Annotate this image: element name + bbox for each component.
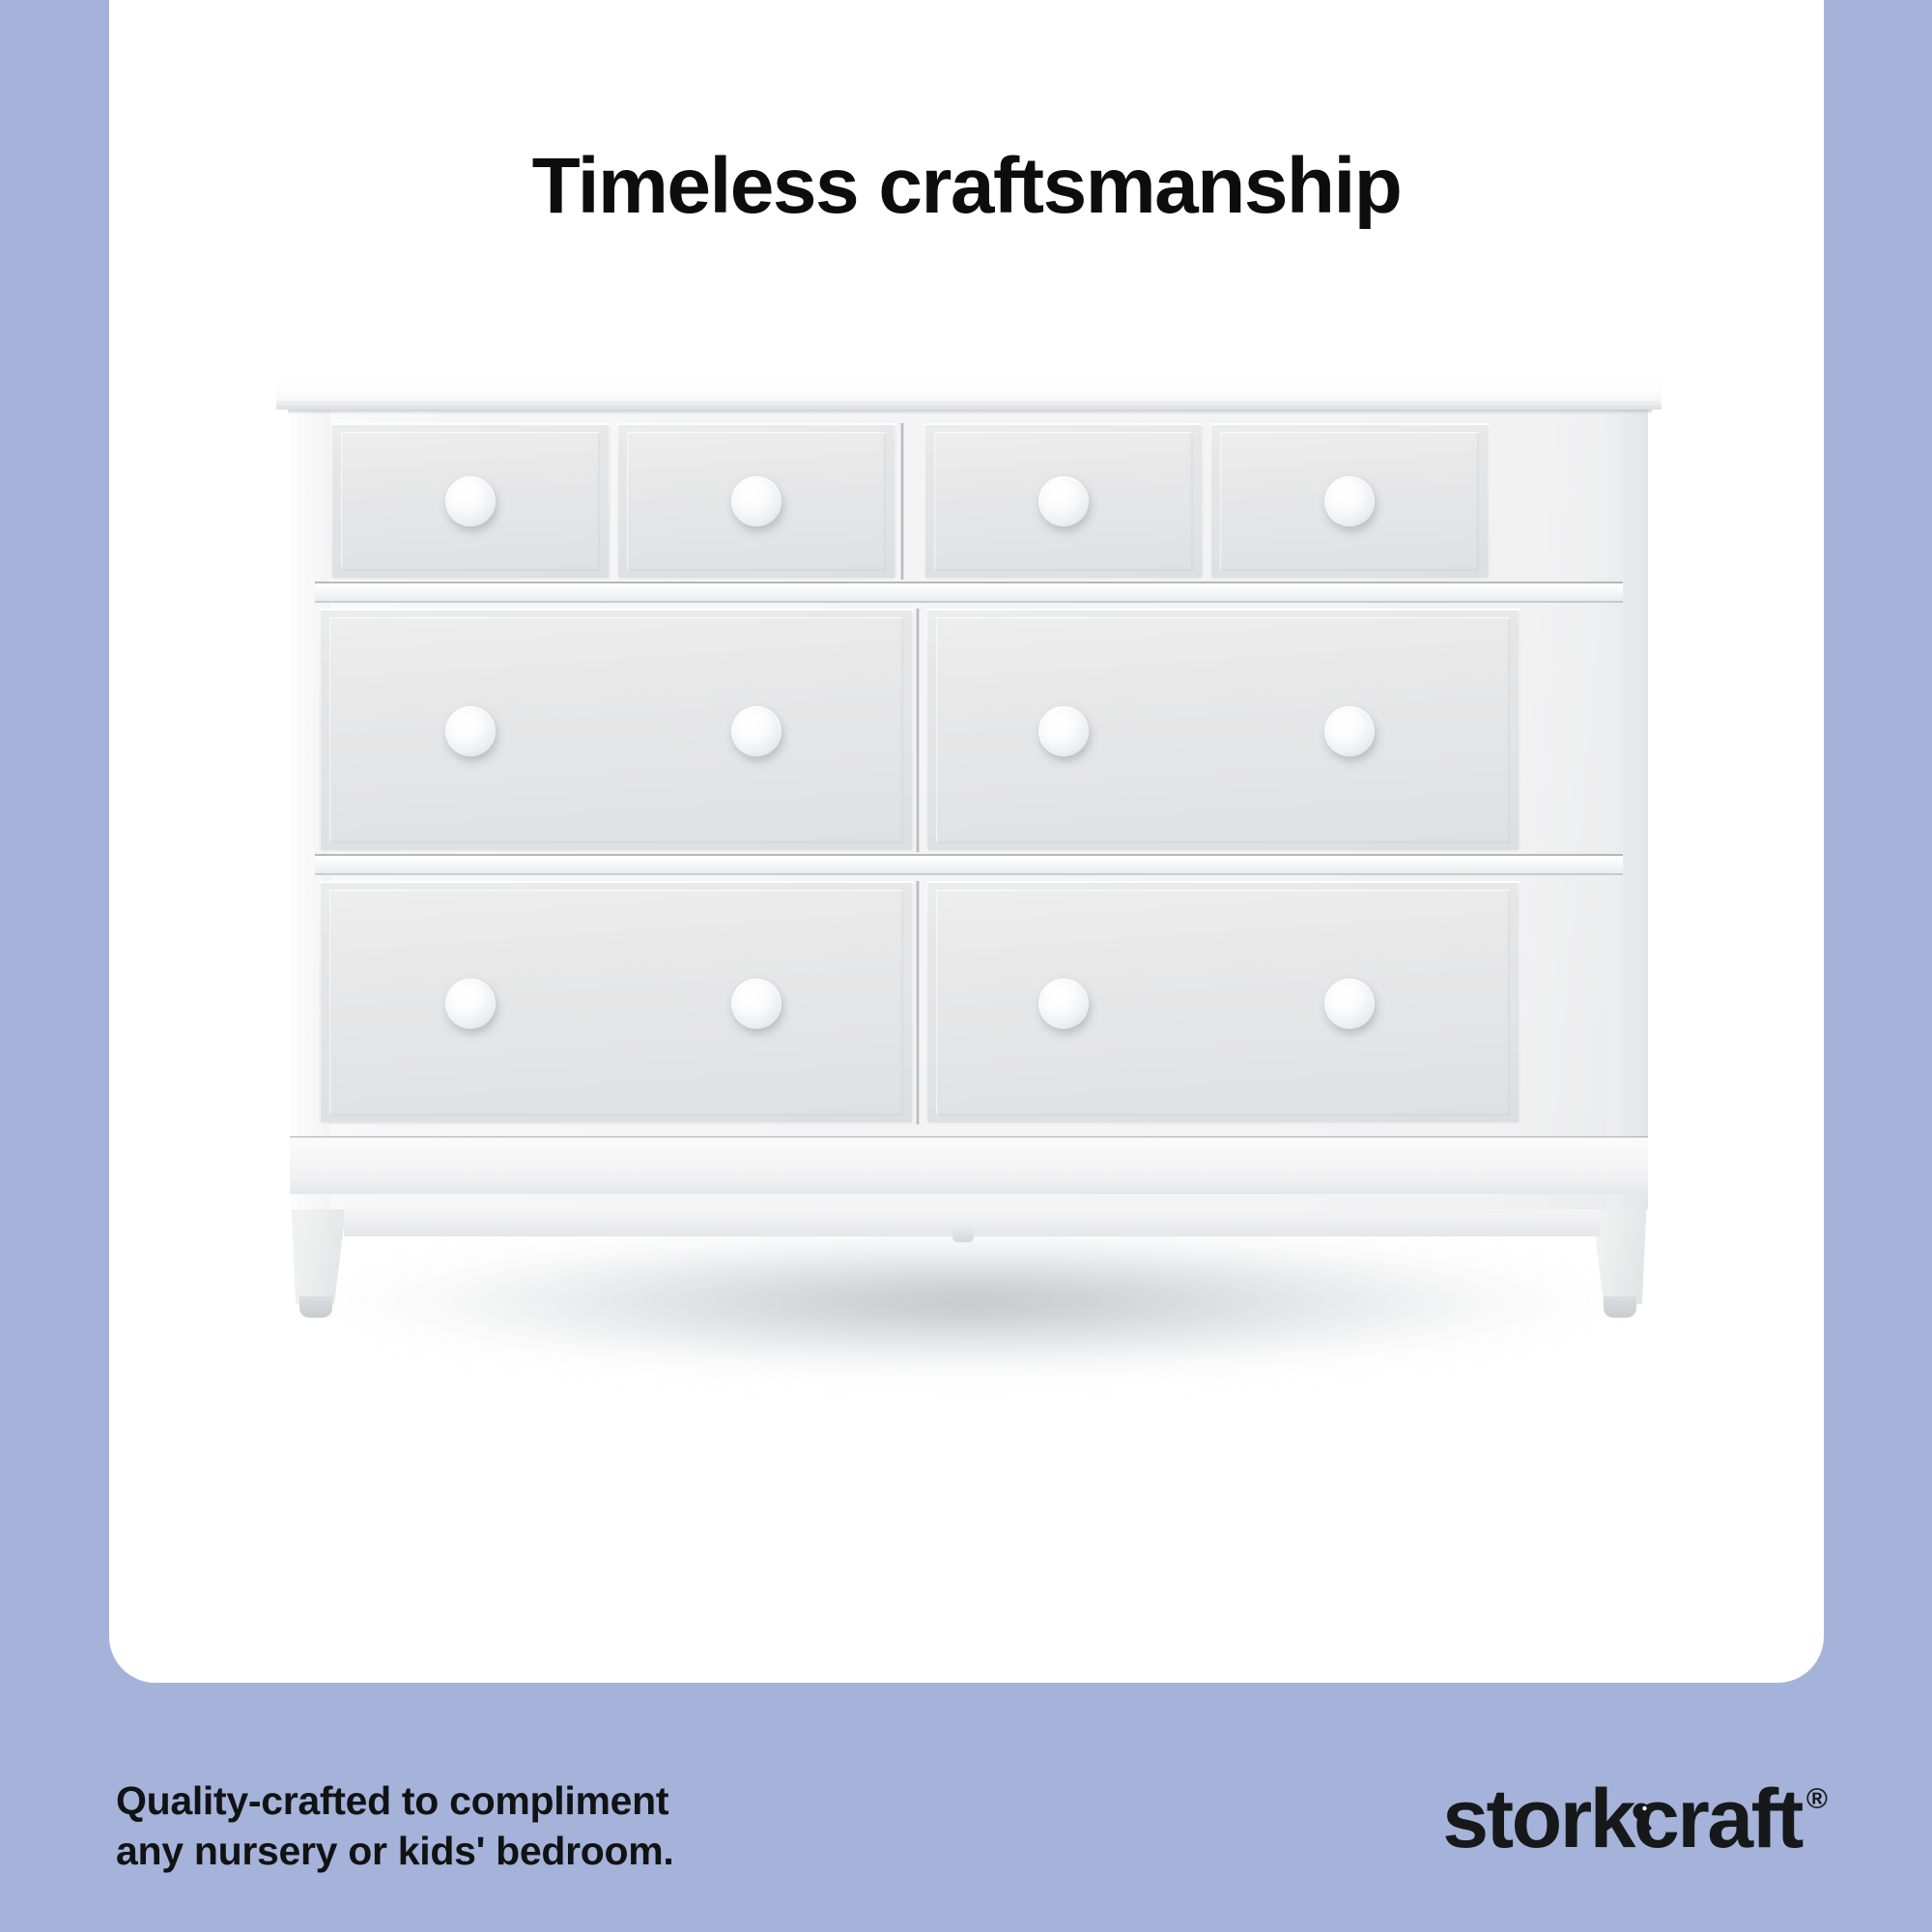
rail-middle <box>315 856 1623 873</box>
drawer-knob[interactable] <box>731 476 781 526</box>
foot-right <box>1604 1296 1636 1318</box>
floor-shadow <box>317 1236 1621 1430</box>
drawer-gap <box>916 609 920 852</box>
drawer-middle-left[interactable] <box>319 609 914 852</box>
drawer-knob[interactable] <box>445 706 496 756</box>
drawer-knob[interactable] <box>1038 979 1089 1029</box>
center-support-foot <box>952 1227 974 1242</box>
product-card: Timeless craftsmanship <box>109 0 1824 1683</box>
product-image-dresser <box>259 377 1679 1401</box>
side-panel-right <box>1607 398 1648 1209</box>
drawer-knob[interactable] <box>1324 706 1375 756</box>
brand-wordmark: storkcraft <box>1442 1777 1802 1861</box>
drawer-knob[interactable] <box>1038 706 1089 756</box>
drawer-gap <box>916 881 920 1124</box>
drawer-panel <box>936 617 1510 843</box>
stork-bird-icon <box>1619 1799 1660 1837</box>
drawer-knob[interactable] <box>1324 476 1375 526</box>
drawer-bottom-left[interactable] <box>319 881 914 1124</box>
table-top-edge <box>276 401 1662 410</box>
drawer-knob[interactable] <box>1038 476 1089 526</box>
drawer-gap <box>900 423 904 580</box>
drawer-knob[interactable] <box>445 979 496 1029</box>
drawer-panel <box>936 890 1510 1116</box>
drawer-middle-right[interactable] <box>925 609 1520 852</box>
drawer-knob[interactable] <box>731 979 781 1029</box>
drawer-bottom-right[interactable] <box>925 881 1520 1124</box>
foot-left <box>299 1296 332 1318</box>
bottom-apron <box>290 1138 1648 1194</box>
table-top <box>276 377 1662 404</box>
drawer-panel <box>329 617 903 843</box>
table-top-shadow <box>288 410 1652 414</box>
drawer-knob[interactable] <box>1324 979 1375 1029</box>
drawer-knob[interactable] <box>445 476 496 526</box>
drawer-panel <box>329 890 903 1116</box>
page-title: Timeless craftsmanship <box>109 145 1824 228</box>
drawer-knob[interactable] <box>731 706 781 756</box>
caption-line-1: Quality-crafted to compliment <box>116 1776 674 1826</box>
brand-logo: storkcraft ® <box>1442 1777 1828 1861</box>
rail-top <box>315 583 1623 601</box>
registered-trademark-symbol: ® <box>1806 1783 1828 1816</box>
caption-line-2: any nursery or kids' bedroom. <box>116 1826 674 1876</box>
footer-caption: Quality-crafted to compliment any nurser… <box>116 1776 674 1877</box>
